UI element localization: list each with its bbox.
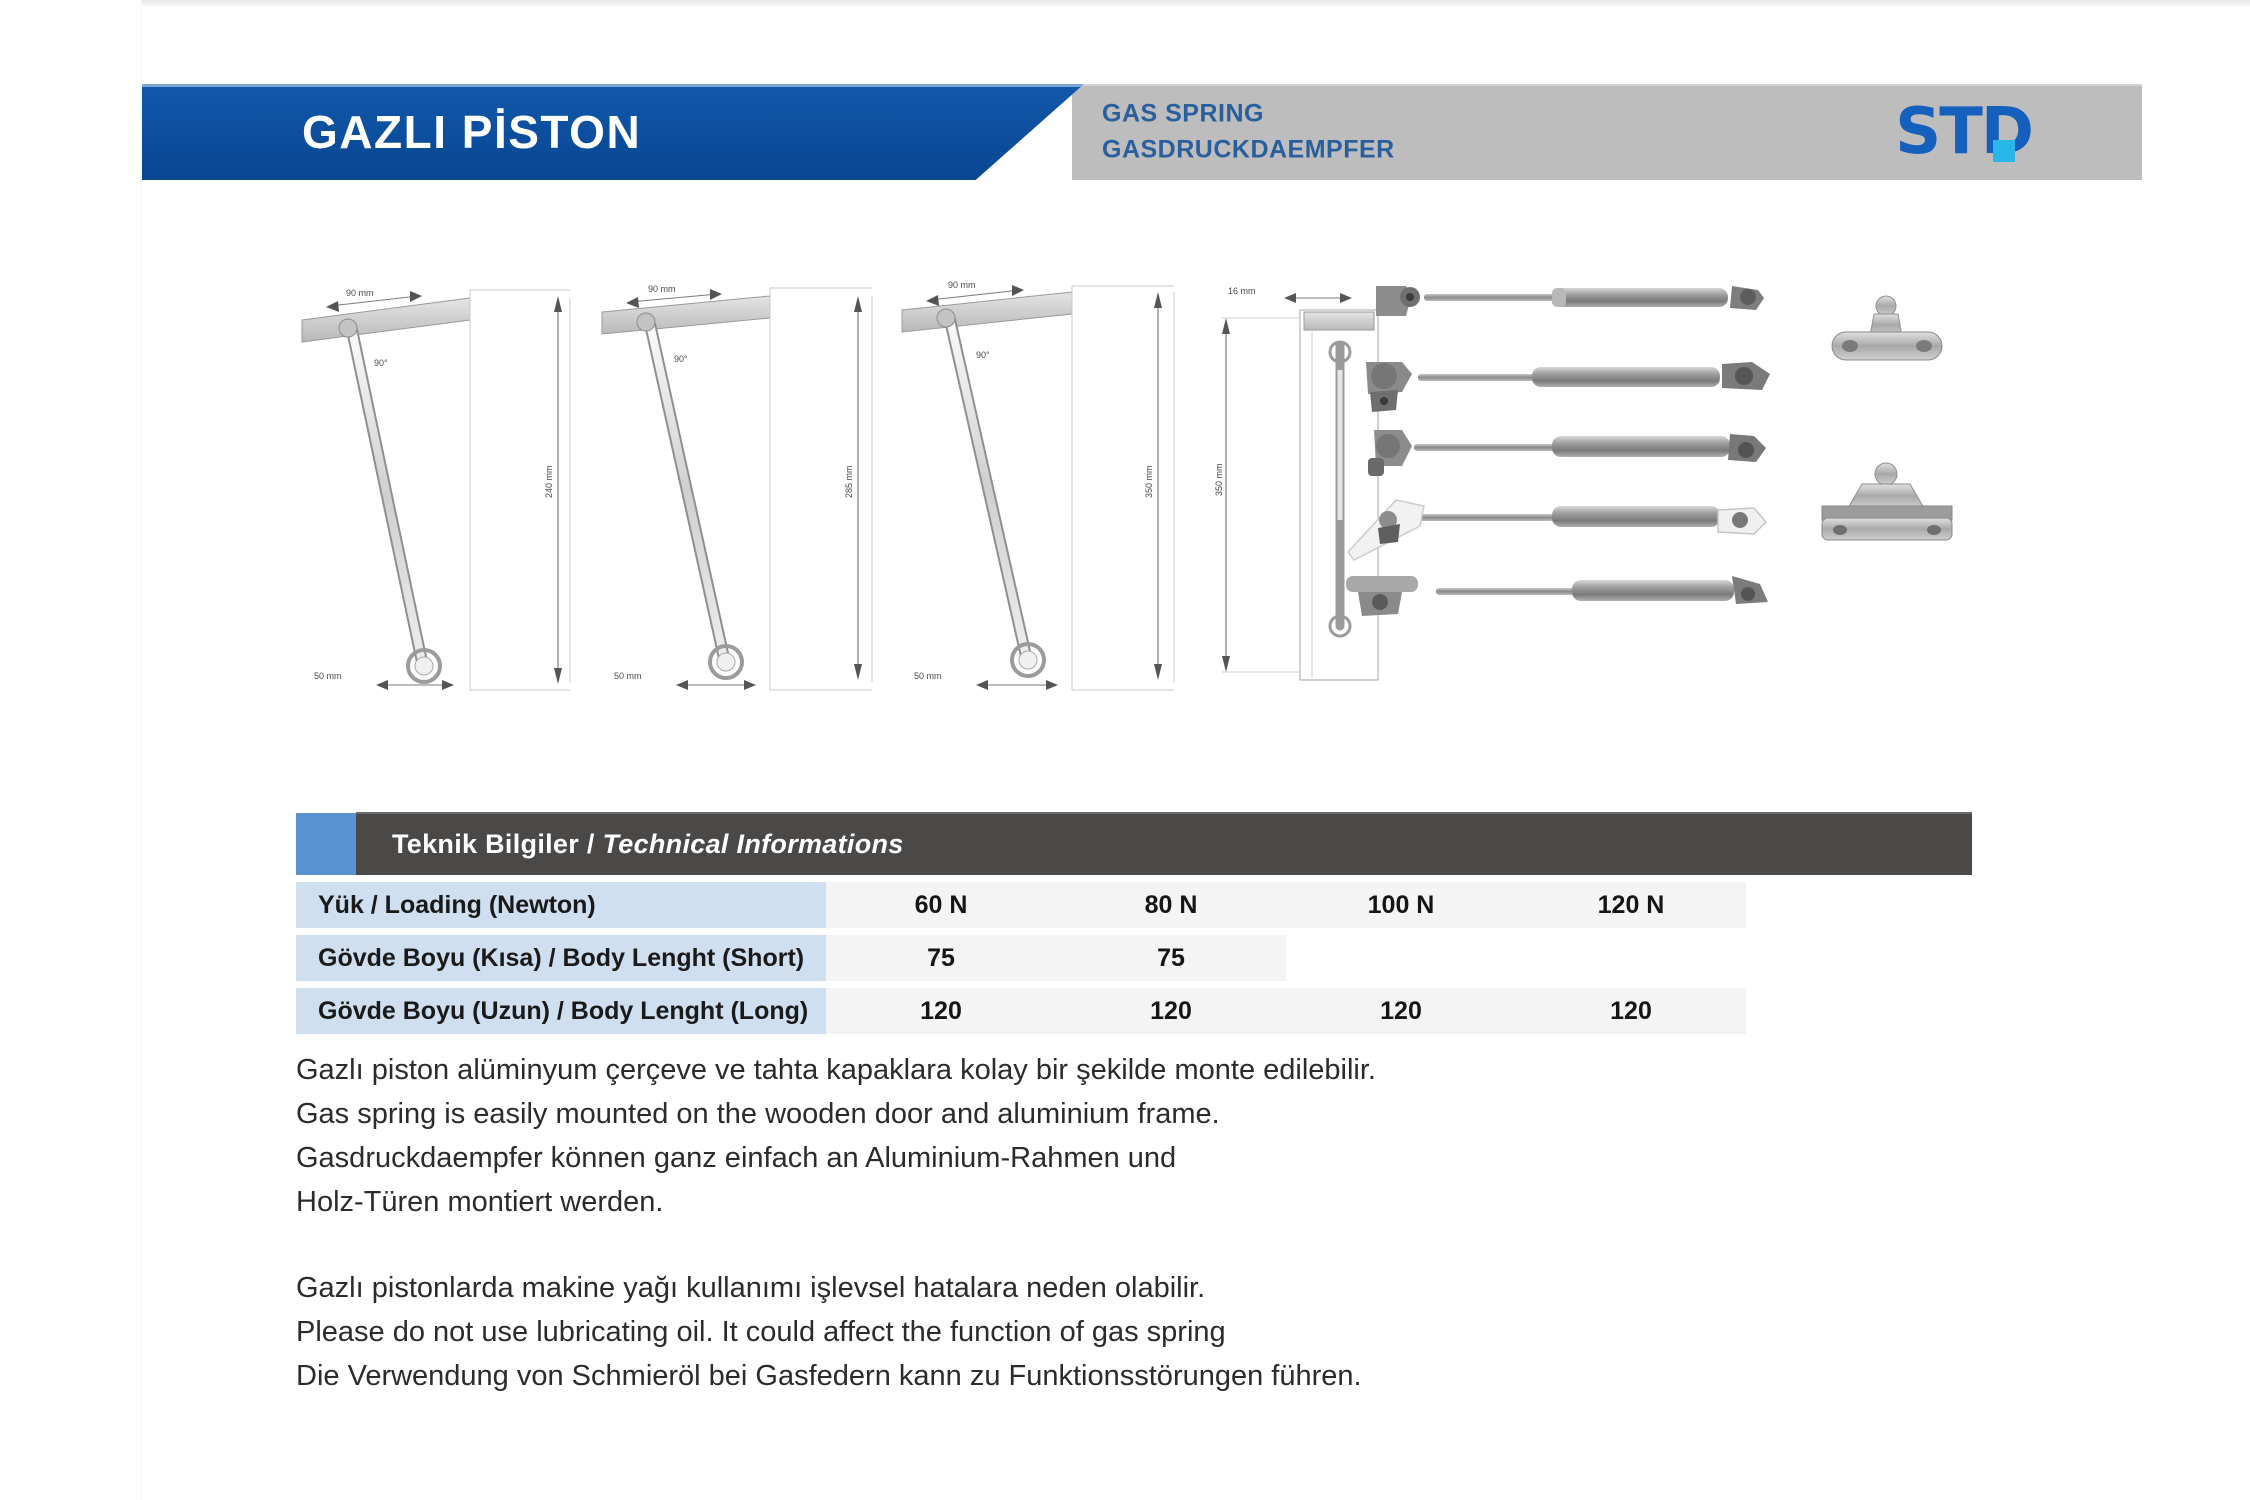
table-header-row: Teknik Bilgiler / Technical Informations bbox=[296, 813, 1972, 875]
lubricant-warning-line-de: Die Verwendung von Schmieröl bei Gasfede… bbox=[296, 1354, 1796, 1398]
dim-top-label: 90 mm bbox=[346, 288, 374, 298]
header-subtitles: GAS SPRING GASDRUCKDAEMPFER bbox=[1102, 97, 1395, 168]
row-tail bbox=[1746, 882, 1972, 928]
dim-bottom-label: 50 mm bbox=[914, 671, 942, 681]
logo-accent-square bbox=[1993, 140, 2015, 162]
dim-top-label: 90 mm bbox=[948, 280, 976, 290]
dim-vertical-label: 350 mm bbox=[1144, 465, 1154, 498]
cell-short-100n bbox=[1286, 935, 1516, 981]
gas-spring-ball-stud bbox=[1368, 430, 1766, 476]
table-header-separator: / bbox=[579, 829, 602, 859]
cell-long-80n: 120 bbox=[1056, 988, 1286, 1034]
drawing-short-90mm: 90 mm 90° 240 mm 50 mm bbox=[300, 270, 600, 710]
table-row: Yük / Loading (Newton) 60 N 80 N 100 N 1… bbox=[296, 882, 1972, 928]
dim-angle-label: 90° bbox=[976, 350, 990, 360]
mounting-note-line-de-2: Holz-Türen montiert werden. bbox=[296, 1180, 1796, 1224]
product-photos-brackets bbox=[1800, 270, 2060, 710]
lubricant-warning: Gazlı pistonlarda makine yağı kullanımı … bbox=[296, 1266, 1796, 1398]
bracket-photos-svg bbox=[1800, 270, 2060, 710]
table-row: Gövde Boyu (Uzun) / Body Lenght (Long) 1… bbox=[296, 988, 1972, 1034]
logo-wordmark: STD bbox=[1895, 100, 2032, 164]
table-gap-row bbox=[296, 928, 1972, 935]
spec-table-element: Teknik Bilgiler / Technical Informations… bbox=[296, 812, 1972, 1034]
row-tail bbox=[1746, 935, 1972, 981]
bracket-ball-stud-stepped bbox=[1822, 463, 1952, 540]
subtitle-german: GASDRUCKDAEMPFER bbox=[1102, 132, 1395, 168]
page-top-rule bbox=[142, 0, 2250, 6]
cell-loading-60n: 60 N bbox=[826, 882, 1056, 928]
mounting-note-line-en: Gas spring is easily mounted on the wood… bbox=[296, 1092, 1796, 1136]
dim-top-label: 16 mm bbox=[1228, 286, 1256, 296]
table-header-title-en: Technical Informations bbox=[602, 829, 903, 859]
gas-spring-wide-plate bbox=[1348, 500, 1766, 560]
dim-bottom-label: 50 mm bbox=[614, 671, 642, 681]
product-photos-gas-springs bbox=[1340, 270, 1820, 710]
row-tail bbox=[1746, 988, 1972, 1034]
cell-loading-100n: 100 N bbox=[1286, 882, 1516, 928]
cell-short-60n: 75 bbox=[826, 935, 1056, 981]
row-label-loading: Yük / Loading (Newton) bbox=[296, 882, 826, 928]
row-label-body-long: Gövde Boyu (Uzun) / Body Lenght (Long) bbox=[296, 988, 826, 1034]
mounting-note-line-tr: Gazlı piston alüminyum çerçeve ve tahta … bbox=[296, 1048, 1796, 1092]
cell-loading-120n: 120 N bbox=[1516, 882, 1746, 928]
drawing-short-svg: 90 mm 90° 240 mm 50 mm bbox=[300, 270, 600, 710]
dim-vertical-label: 350 mm bbox=[1214, 463, 1224, 496]
lubricant-warning-line-en: Please do not use lubricating oil. It co… bbox=[296, 1310, 1796, 1354]
page-left-rule bbox=[140, 0, 142, 1500]
page-header: GAZLI PİSTON GAS SPRING GASDRUCKDAEMPFER… bbox=[142, 84, 2142, 180]
cell-short-80n: 75 bbox=[1056, 935, 1286, 981]
bracket-ball-stud-flat bbox=[1832, 296, 1942, 360]
catalog-page: GAZLI PİSTON GAS SPRING GASDRUCKDAEMPFER… bbox=[0, 0, 2250, 1500]
drawing-medium-90mm: 90 mm 90° 285 mm 50 mm bbox=[600, 270, 900, 710]
cell-long-100n: 120 bbox=[1286, 988, 1516, 1034]
cell-long-120n: 120 bbox=[1516, 988, 1746, 1034]
table-header-title-tr: Teknik Bilgiler bbox=[392, 829, 579, 859]
cell-long-60n: 120 bbox=[826, 988, 1056, 1034]
dim-vertical-label: 285 mm bbox=[844, 465, 854, 498]
dim-vertical-label: 240 mm bbox=[544, 465, 554, 498]
cell-loading-80n: 80 N bbox=[1056, 882, 1286, 928]
mounting-note: Gazlı piston alüminyum çerçeve ve tahta … bbox=[296, 1048, 1796, 1224]
gas-spring-corner-plate bbox=[1346, 576, 1768, 616]
technical-drawings-strip: 90 mm 90° 240 mm 50 mm bbox=[300, 270, 2060, 710]
page-title: GAZLI PİSTON bbox=[302, 105, 641, 159]
gas-spring-angle-bracket bbox=[1366, 362, 1770, 412]
subtitle-english: GAS SPRING bbox=[1102, 97, 1395, 133]
table-header-accent bbox=[296, 813, 356, 875]
dim-angle-label: 90° bbox=[374, 358, 388, 368]
table-gap-row bbox=[296, 981, 1972, 988]
dim-angle-label: 90° bbox=[674, 354, 688, 364]
drawing-long-90mm: 90 mm 90° 350 mm 50 mm bbox=[900, 270, 1200, 710]
table-gap-row bbox=[296, 875, 1972, 882]
std-logo: STD bbox=[1895, 100, 2032, 164]
cell-short-120n bbox=[1516, 935, 1746, 981]
lubricant-warning-line-tr: Gazlı pistonlarda makine yağı kullanımı … bbox=[296, 1266, 1796, 1310]
drawing-medium-svg: 90 mm 90° 285 mm 50 mm bbox=[600, 270, 900, 710]
gas-spring-flat-bracket bbox=[1376, 286, 1764, 316]
dim-bottom-label: 50 mm bbox=[314, 671, 342, 681]
table-row: Gövde Boyu (Kısa) / Body Lenght (Short) … bbox=[296, 935, 1972, 981]
dim-top-label: 90 mm bbox=[648, 284, 676, 294]
table-header-title: Teknik Bilgiler / Technical Informations bbox=[356, 813, 1972, 875]
row-label-body-short: Gövde Boyu (Kısa) / Body Lenght (Short) bbox=[296, 935, 826, 981]
mounting-note-line-de-1: Gasdruckdaempfer können ganz einfach an … bbox=[296, 1136, 1796, 1180]
drawing-long-svg: 90 mm 90° 350 mm 50 mm bbox=[900, 270, 1200, 710]
gas-spring-photos-svg bbox=[1340, 270, 1820, 710]
descriptive-text: Gazlı piston alüminyum çerçeve ve tahta … bbox=[296, 1048, 1796, 1399]
technical-information-table: Teknik Bilgiler / Technical Informations… bbox=[296, 812, 1972, 1034]
